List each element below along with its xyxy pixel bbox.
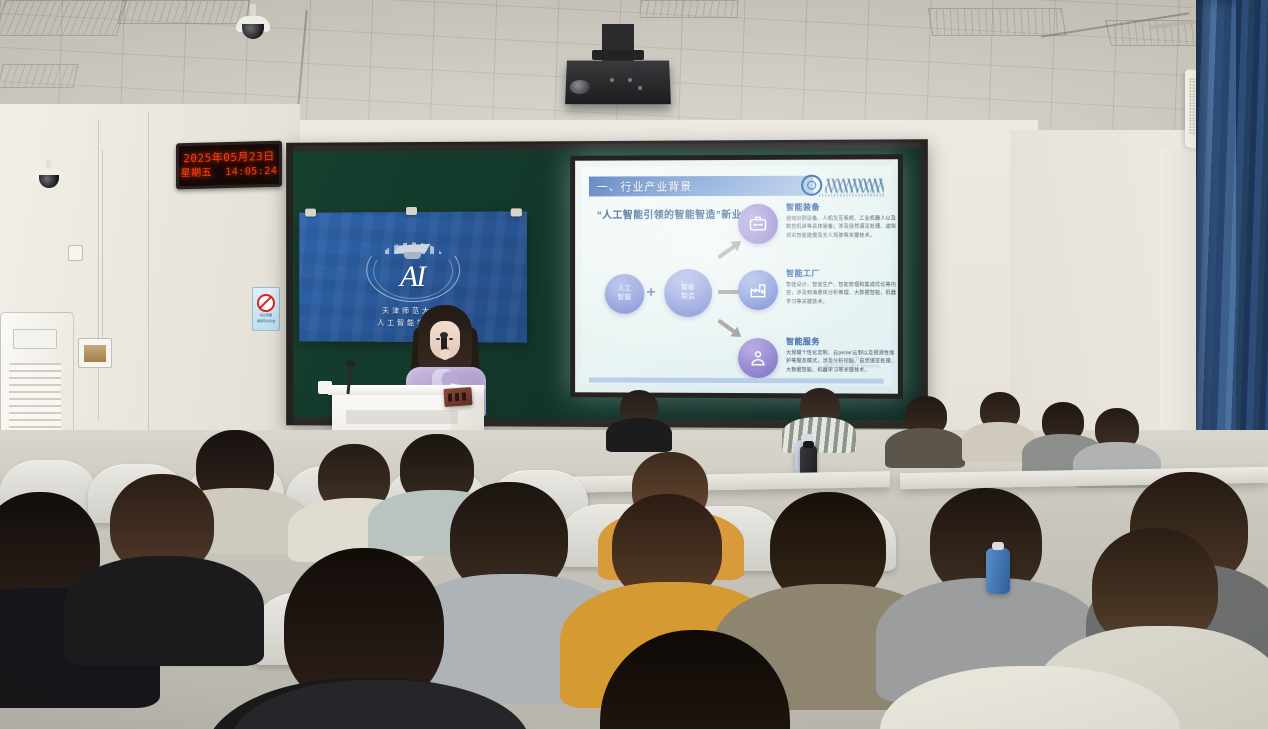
banner-clip [305,209,316,217]
ai-monogram: AI [400,260,424,294]
service-person-icon [738,338,778,378]
no-smoking-icon [257,294,275,312]
university-emblem-icon [801,175,822,196]
slide-subtitle: “人工智能引领的智能智造”新业态 [597,206,753,221]
wall-switch[interactable] [68,245,83,261]
power-strip[interactable] [443,387,472,407]
university-name-calligraphy [825,178,884,192]
slide-item-title: 智能装备 [786,202,820,213]
presenter-hand [440,349,450,360]
lecture-hall-photo: 2025年05月23日 星期五 14:05:24 禁止吸烟 保持环境清洁 第十四… [0,0,1268,729]
node-mfg-line2: 制造 [681,293,695,302]
diagram-arrow-down [717,319,740,338]
diagram-plus-operator: + [646,284,655,302]
wall-conduit [98,150,103,342]
wall-socket-box[interactable] [78,338,112,368]
factory-icon [738,270,778,310]
diagram-arrow-up [717,241,740,260]
presentation-slide: 一、行业产业背景 “人工智能引领的智能智造”新业态 人工 智能 + 智能 制造 [581,165,892,385]
no-smoking-sign: 禁止吸烟 保持环境清洁 [252,287,280,331]
slide-header-title: 一、行业产业背景 [597,178,692,194]
no-smoking-line2: 保持环境清洁 [257,320,275,324]
slide-item-body: 智能设计、智能生产、智能管理和集成优化等内容，涉及到海量体分析推理、大数据智能、… [786,281,899,306]
briefcase-icon [738,204,778,244]
ai-logo: AI [366,238,458,300]
watermark-line2: 转到“设置”以激活 Windows。 [825,362,884,369]
led-clock-display: 2025年05月23日 星期五 14:05:24 [176,141,282,190]
slide-item-title: 智能工厂 [786,268,820,279]
projection-screen: 一、行业产业背景 “人工智能引领的智能智造”新业态 人工 智能 + 智能 制造 [570,154,903,399]
university-logo [801,174,884,195]
no-smoking-line1: 禁止吸烟 [260,314,272,318]
ac-control-panel[interactable] [13,329,57,349]
slide-item-title: 智能服务 [786,336,820,347]
node-ai-line1: 人工 [618,285,632,294]
ceiling-projector [566,60,670,112]
slide-footer-bar [589,377,884,383]
university-name-latin [819,194,884,197]
diagram-node-manufacturing: 智能 制造 [664,269,712,317]
banner-clip [511,208,522,216]
water-bottle [986,548,1010,594]
banner-clip [406,207,417,215]
graduation-cap-icon [394,244,430,254]
dome-camera-icon [236,4,270,44]
dome-camera-icon [34,160,64,194]
wall-seam [148,112,149,442]
led-clock-time: 星期五 14:05:24 [181,164,278,181]
slide-item-body: 自动识别设备、人机交互系统、工业机器人以及数控机床等具体装备；涉及自然语言处理、… [786,215,899,240]
windows-activation-watermark: 激活 Windows 转到“设置”以激活 Windows。 [825,355,884,370]
seating-area [0,430,1268,729]
diagram-node-ai: 人工 智能 [605,274,645,314]
node-ai-line2: 智能 [618,294,632,303]
desk-row [560,471,890,493]
node-mfg-line1: 智能 [681,284,695,293]
